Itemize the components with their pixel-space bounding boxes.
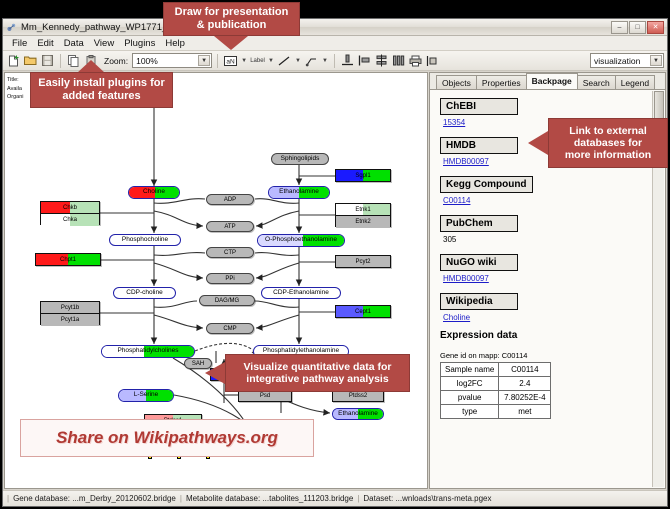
- db-value-pubchem: 305: [443, 235, 665, 244]
- cofactor-node-cmp[interactable]: CMP: [206, 323, 254, 334]
- node-label: Phosphocholine: [122, 237, 168, 244]
- data-node-icon[interactable]: aN: [223, 53, 238, 69]
- node-label: ADP: [224, 197, 236, 203]
- db-name-kegg-compound: Kegg Compound: [440, 176, 533, 193]
- db-link-nugo-wiki[interactable]: HMDB00097: [443, 274, 665, 283]
- node-label: DAG/MG: [215, 298, 239, 304]
- toolbar-separator: [60, 54, 61, 68]
- gene-node-chpt1[interactable]: Chpt1: [35, 253, 101, 266]
- node-label: Etnk1: [355, 207, 370, 213]
- metabolite-node-phosphocholine[interactable]: Phosphocholine: [109, 234, 181, 246]
- app-icon: [6, 22, 17, 33]
- gene-node-etnk2[interactable]: Etnk2: [336, 216, 390, 228]
- cofactor-node-adp[interactable]: ADP: [206, 194, 254, 205]
- metabolite-node-ethanolamine[interactable]: Ethanolamine: [268, 186, 330, 199]
- db-block-wikipedia: Wikipedia Choline: [440, 291, 665, 322]
- metabolite-node-choline-top[interactable]: Choline: [128, 186, 180, 199]
- save-icon[interactable]: [40, 53, 55, 69]
- node-label: Cept1: [355, 309, 371, 315]
- menu-plugins[interactable]: Plugins: [119, 37, 160, 50]
- chevron-down-icon-visualization[interactable]: ▼: [650, 55, 662, 66]
- node-label: Pcyt2: [355, 259, 370, 265]
- window-controls: – □ ✕: [611, 21, 664, 34]
- node-label: CTP: [224, 250, 236, 256]
- status-metabolite-database: Metabolite database: ...tabolites_111203…: [186, 494, 353, 503]
- expr-key-sample-name: Sample name: [441, 363, 499, 377]
- node-label: Chkb: [63, 205, 77, 211]
- metabolite-node-ethanolamine-bottom[interactable]: Ethanolamine: [332, 408, 384, 420]
- status-separator-2: |: [357, 494, 359, 503]
- menu-bar: File Edit Data View Plugins Help: [3, 36, 667, 51]
- new-file-icon[interactable]: [6, 53, 21, 69]
- callout-link: Link to external databases for more info…: [548, 118, 668, 168]
- print-icon[interactable]: [408, 53, 423, 69]
- node-label: SAH: [192, 361, 204, 367]
- node-label: Psd: [260, 393, 270, 399]
- node-label: Sgpl1: [355, 173, 370, 179]
- callout-visualize-arrow-icon: [205, 362, 225, 384]
- menu-view[interactable]: View: [89, 37, 119, 50]
- expr-value-log2fc: 2.4: [499, 377, 551, 391]
- toolbar-separator-2: [217, 54, 218, 68]
- align-bottom-icon[interactable]: [340, 53, 355, 69]
- table-row: pvalue 7.80252E-4: [441, 391, 551, 405]
- node-label: Chpt1: [60, 257, 76, 263]
- interaction-icon[interactable]: [304, 53, 319, 69]
- gene-node-chka[interactable]: Chka: [41, 214, 99, 226]
- gene-node-pcyt2[interactable]: Pcyt2: [335, 255, 391, 268]
- tab-properties[interactable]: Properties: [476, 75, 527, 89]
- db-block-kegg-compound: Kegg Compound C00114: [440, 174, 665, 205]
- menu-help[interactable]: Help: [160, 37, 190, 50]
- label-icon-text: Label: [250, 58, 265, 64]
- svg-text:aN: aN: [226, 58, 235, 65]
- tab-objects[interactable]: Objects: [436, 75, 477, 89]
- scrollbar-thumb[interactable]: [654, 91, 664, 121]
- distribute-icon[interactable]: [391, 53, 406, 69]
- cofactor-node-dag-mg[interactable]: DAG/MG: [199, 295, 255, 306]
- callout-plugins: Easily install plugins for added feature…: [30, 72, 173, 108]
- gene-id-line: Gene id on mapp: C00114: [440, 351, 665, 360]
- close-button[interactable]: ✕: [647, 21, 664, 34]
- node-label: Ptdss2: [349, 393, 367, 399]
- expression-table: Sample name C00114 log2FC 2.4 pvalue 7.8…: [440, 362, 551, 419]
- gene-node-sgpl1[interactable]: Sgpl1: [335, 169, 391, 182]
- db-block-pubchem: PubChem 305: [440, 213, 665, 244]
- menu-file[interactable]: File: [7, 37, 32, 50]
- align-left-icon[interactable]: [357, 53, 372, 69]
- menu-edit[interactable]: Edit: [32, 37, 58, 50]
- node-label: O-Phosphoethanolamine: [265, 237, 337, 244]
- menu-data[interactable]: Data: [59, 37, 89, 50]
- callout-visualize: Visualize quantitative data for integrat…: [225, 354, 410, 392]
- callout-share: Share on Wikipathways.org: [20, 419, 314, 457]
- gene-group-etnk[interactable]: Etnk1 Etnk2: [335, 203, 391, 227]
- line-icon[interactable]: [277, 53, 292, 69]
- gene-node-pcyt1a[interactable]: Pcyt1a: [41, 314, 99, 326]
- gene-group-chk[interactable]: Chkb Chka: [40, 201, 100, 225]
- stack-center-icon[interactable]: [374, 53, 389, 69]
- gene-node-pcyt1b[interactable]: Pcyt1b: [41, 302, 99, 314]
- bring-to-front-icon[interactable]: [425, 53, 440, 69]
- db-name-pubchem: PubChem: [440, 215, 518, 232]
- expression-data-heading: Expression data: [440, 330, 665, 341]
- node-label: L-Serine: [134, 392, 159, 399]
- metabolite-node-sphingolipids[interactable]: Sphingolipids: [271, 153, 329, 165]
- expr-value-pvalue: 7.80252E-4: [499, 391, 551, 405]
- visualization-value: visualization: [594, 56, 640, 66]
- zoom-combo[interactable]: 100% ▼: [132, 53, 212, 68]
- tab-search[interactable]: Search: [577, 75, 616, 89]
- node-label: Ethanolamine: [338, 411, 378, 418]
- toolbar-separator-3: [334, 54, 335, 68]
- expr-value-sample-name: C00114: [499, 363, 551, 377]
- title-bar: Mm_Kennedy_pathway_WP1771_45176.gpml – □…: [3, 19, 667, 36]
- gene-node-cept1[interactable]: Cept1: [335, 305, 391, 318]
- node-label: CDP-Ethanolamine: [273, 290, 329, 297]
- node-label: PPi: [225, 276, 234, 282]
- db-link-kegg-compound[interactable]: C00114: [443, 196, 665, 205]
- gene-node-chkb[interactable]: Chkb: [41, 202, 99, 214]
- expr-key-pvalue: pvalue: [441, 391, 499, 405]
- metabolite-node-phosphatidylcholines[interactable]: Phosphatidylcholines: [101, 345, 195, 358]
- node-label: Sphingolipids: [281, 156, 320, 163]
- chevron-down-icon-label[interactable]: ▼: [267, 58, 275, 64]
- maximize-button[interactable]: □: [629, 21, 646, 34]
- db-name-hmdb: HMDB: [440, 137, 518, 154]
- expr-key-log2fc: log2FC: [441, 377, 499, 391]
- metabolite-node-o-phosphoethanolamine[interactable]: O-Phosphoethanolamine: [257, 234, 345, 247]
- expr-key-type: type: [441, 405, 499, 419]
- expr-value-type: met: [499, 405, 551, 419]
- table-row: Sample name C00114: [441, 363, 551, 377]
- callout-draw-arrow-icon: [214, 36, 248, 50]
- node-label: Ethanolamine: [279, 189, 319, 196]
- tab-backpage[interactable]: Backpage: [526, 73, 578, 89]
- callout-draw: Draw for presentation & publication: [163, 2, 300, 36]
- node-label: CDP-choline: [126, 290, 163, 297]
- node-label: Etnk2: [355, 219, 370, 225]
- chevron-down-icon-line[interactable]: ▼: [294, 58, 302, 64]
- callout-link-arrow-icon: [528, 131, 548, 155]
- gene-node-etnk1[interactable]: Etnk1: [336, 204, 390, 216]
- zoom-value: 100%: [136, 56, 158, 66]
- node-label: Phosphatidylcholines: [117, 348, 178, 355]
- status-separator-1: |: [180, 494, 182, 503]
- gene-group-pcyt1[interactable]: Pcyt1b Pcyt1a: [40, 301, 100, 325]
- chevron-down-icon-datanode[interactable]: ▼: [240, 58, 248, 64]
- node-label: ATP: [224, 224, 235, 230]
- status-bar: | Gene database: ...m_Derby_20120602.bri…: [3, 490, 667, 506]
- node-label: Pcyt1a: [61, 317, 79, 323]
- metabolite-node-l-serine-left[interactable]: L-Serine: [118, 389, 174, 402]
- status-dataset: Dataset: ...wnloads\trans-meta.pgex: [363, 494, 491, 503]
- open-folder-icon[interactable]: [23, 53, 38, 69]
- node-label: Pcyt1b: [61, 305, 79, 311]
- metabolite-node-cdp-choline[interactable]: CDP-choline: [113, 287, 176, 299]
- table-row: log2FC 2.4: [441, 377, 551, 391]
- side-panel-tabs: Objects Properties Backpage Search Legen…: [430, 73, 665, 90]
- node-label: Choline: [143, 189, 165, 196]
- db-name-chebi: ChEBI: [440, 98, 518, 115]
- cofactor-node-ppi[interactable]: PPi: [206, 273, 254, 284]
- node-label: CMP: [223, 326, 236, 332]
- minimize-button[interactable]: –: [611, 21, 628, 34]
- zoom-label: Zoom:: [104, 56, 128, 66]
- chevron-down-icon[interactable]: ▼: [198, 55, 210, 66]
- db-link-wikipedia[interactable]: Choline: [443, 313, 665, 322]
- cofactor-node-atp[interactable]: ATP: [206, 221, 254, 232]
- status-separator-0: |: [7, 494, 9, 503]
- node-label: Chka: [63, 217, 77, 223]
- table-row: type met: [441, 405, 551, 419]
- db-block-nugo-wiki: NuGO wiki HMDB00097: [440, 252, 665, 283]
- db-name-wikipedia: Wikipedia: [440, 293, 518, 310]
- db-name-nugo-wiki: NuGO wiki: [440, 254, 518, 271]
- cofactor-node-ctp[interactable]: CTP: [206, 247, 254, 258]
- tab-legend[interactable]: Legend: [615, 75, 655, 89]
- metabolite-node-cdp-ethanolamine[interactable]: CDP-Ethanolamine: [261, 287, 341, 299]
- visualization-combo[interactable]: visualization ▼: [590, 53, 664, 68]
- chevron-down-icon-interaction[interactable]: ▼: [321, 58, 329, 64]
- label-icon[interactable]: Label: [250, 53, 265, 69]
- status-gene-database: Gene database: ...m_Derby_20120602.bridg…: [13, 494, 176, 503]
